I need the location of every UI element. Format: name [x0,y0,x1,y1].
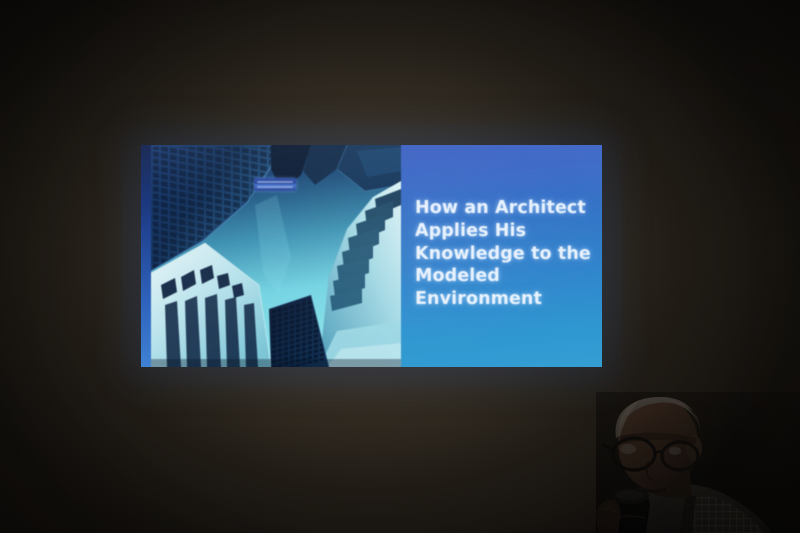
slide-accent-band [141,145,151,367]
presentation-room-scene: How an Architect Applies His Knowledge t… [0,0,800,533]
slide-photo [151,145,401,367]
plaque-line-top [257,181,293,183]
man-with-microphone-illustration [596,392,800,533]
slide-title-line-2: Applies His [415,220,591,243]
slide-title-line-3: Knowledge to the [415,243,591,266]
slide-title: How an Architect Applies His Knowledge t… [401,197,601,311]
speaker-figure [596,392,800,533]
slide-title-line-4: Modeled [415,265,591,288]
projected-slide: How an Architect Applies His Knowledge t… [141,145,602,367]
street-sign-plaque [254,178,296,191]
slide-title-line-5: Environment [415,288,591,311]
speaker-hand [596,500,620,533]
plaque-line-bottom [257,186,293,188]
slide-title-line-1: How an Architect [415,197,591,220]
slide-title-panel: How an Architect Applies His Knowledge t… [401,145,602,367]
